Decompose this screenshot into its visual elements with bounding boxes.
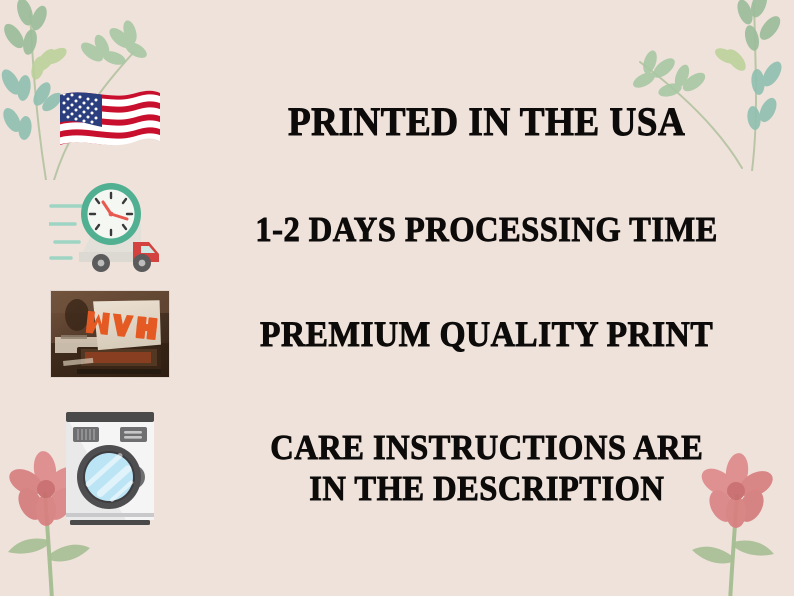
feature-row-processing-time: 1-2 DAYS PROCESSING TIME	[0, 182, 794, 278]
text-slot-premium-quality: PREMIUM QUALITY PRINT	[220, 313, 794, 355]
feature-row-printed-in-usa: PRINTED IN THE USA	[0, 74, 794, 170]
fast-delivery-truck-clock-icon	[49, 182, 171, 278]
icon-slot-fast-delivery	[0, 182, 220, 278]
control-panel	[120, 427, 147, 442]
text-slot-processing-time: 1-2 DAYS PROCESSING TIME	[220, 209, 794, 250]
headline-care-instructions: CARE INSTRUCTIONS ARE IN THE DESCRIPTION	[270, 427, 703, 510]
icon-slot-print-photo	[0, 291, 220, 377]
feature-row-care-instructions: CARE INSTRUCTIONS ARE IN THE DESCRIPTION	[0, 398, 794, 538]
headline-premium-quality: PREMIUM QUALITY PRINT	[260, 313, 713, 355]
speed-lines-icon	[49, 206, 83, 258]
washer-door	[77, 445, 141, 509]
headline-processing-time: 1-2 DAYS PROCESSING TIME	[256, 209, 718, 250]
clock-icon	[81, 183, 141, 245]
text-slot-care-instructions: CARE INSTRUCTIONS ARE IN THE DESCRIPTION	[220, 427, 794, 510]
washer-base	[70, 520, 150, 525]
feature-row-premium-quality: PREMIUM QUALITY PRINT	[0, 284, 794, 384]
washer-top-panel	[66, 412, 154, 422]
icon-slot-usa-flag	[0, 87, 220, 157]
text-slot-printed-in-usa: PRINTED IN THE USA	[220, 98, 794, 145]
headline-printed-in-usa: PRINTED IN THE USA	[288, 98, 685, 145]
usa-flag-icon	[58, 87, 162, 157]
screen-printing-photo	[51, 291, 169, 377]
detergent-drawer	[73, 427, 99, 442]
product-info-graphic: PRINTED IN THE USA	[0, 0, 794, 596]
washing-machine-icon	[64, 410, 156, 526]
icon-slot-washing-machine	[0, 410, 220, 526]
